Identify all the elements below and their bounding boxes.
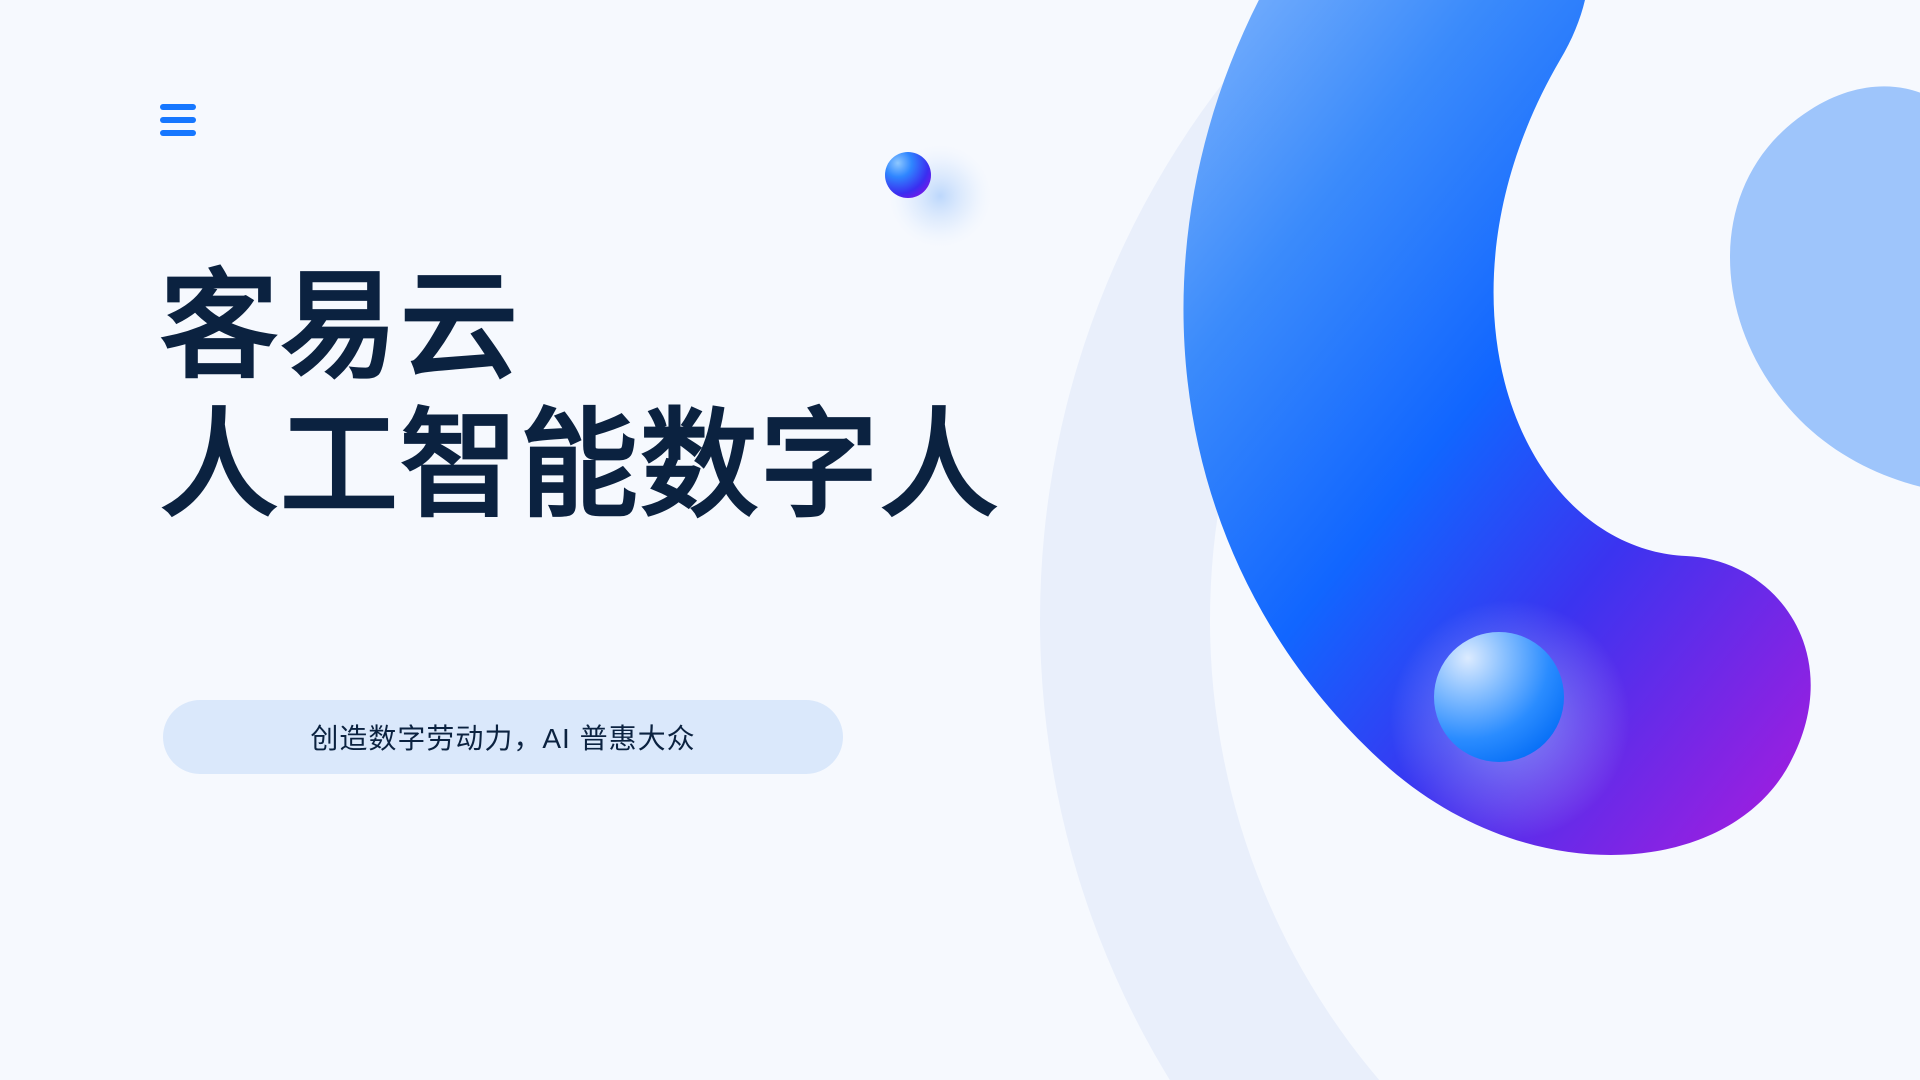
hamburger-menu-button[interactable] — [160, 96, 208, 144]
hamburger-menu-icon-bar-2 — [160, 117, 196, 123]
page-title: 客易云 人工智能数字人 — [160, 258, 1060, 536]
slide-canvas: 客易云 人工智能数字人 创造数字劳动力，AI 普惠大众 — [0, 0, 1920, 1080]
small-sphere — [885, 152, 931, 198]
large-sphere — [1434, 632, 1564, 762]
main-gradient-arc-shape — [1183, 0, 1810, 954]
hamburger-menu-icon-bar-1 — [160, 104, 196, 110]
page-title-line-1: 客易云 — [160, 258, 1060, 397]
subtitle-text: 创造数字劳动力，AI 普惠大众 — [310, 717, 695, 757]
subtitle-badge: 创造数字劳动力，AI 普惠大众 — [163, 700, 843, 774]
inner-light-blue-arc-shape — [1730, 60, 1920, 496]
hamburger-menu-icon-bar-3 — [160, 130, 196, 136]
outer-pale-ring-shape — [1040, 0, 1920, 1080]
large-sphere-glow — [1390, 600, 1630, 840]
page-title-line-2: 人工智能数字人 — [160, 397, 1060, 536]
small-sphere-glow — [888, 144, 992, 248]
decorative-artwork — [820, 0, 1920, 1080]
